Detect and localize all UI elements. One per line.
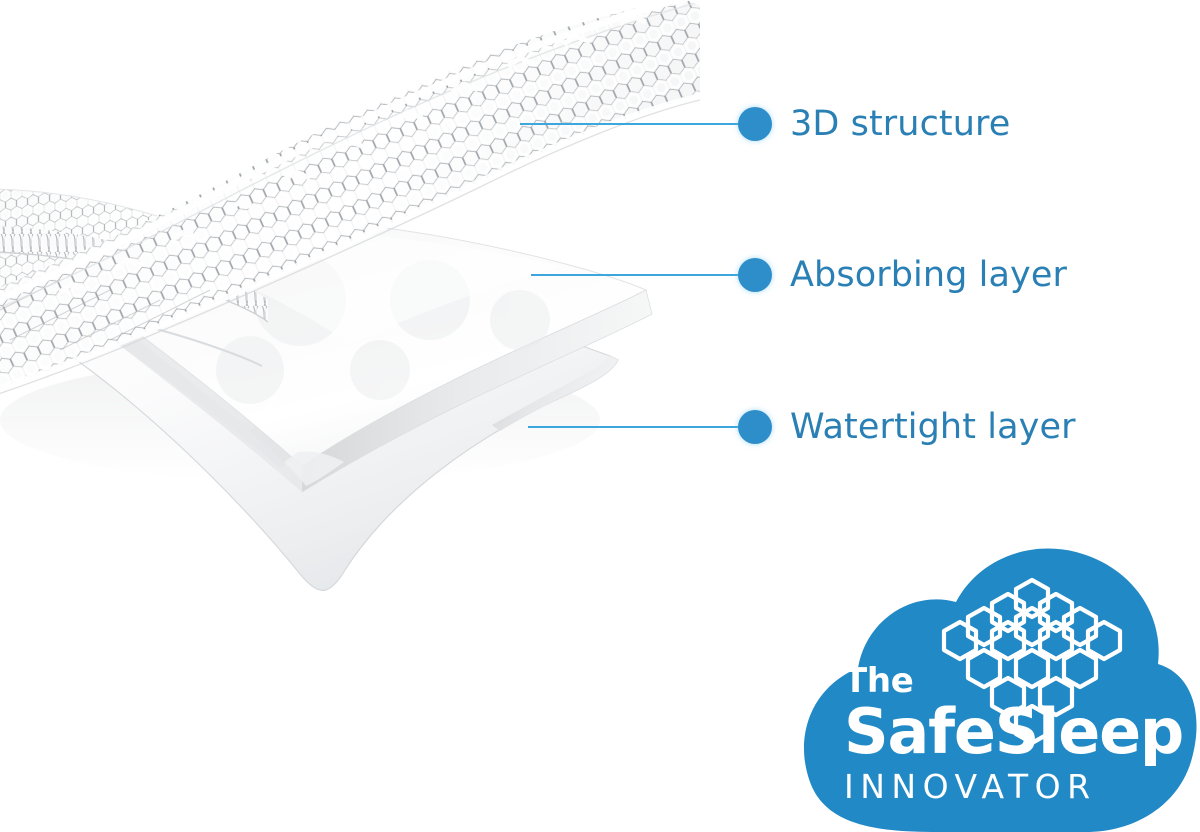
leader-line-absorbing-layer (531, 274, 742, 276)
callout-dot-icon (738, 107, 772, 141)
callout-absorbing-layer: Absorbing layer (738, 255, 1067, 295)
product-layer-diagram: 3D structure Absorbing layer Watertight … (0, 0, 1200, 832)
callout-dot-icon (738, 258, 772, 292)
callout-3d-structure: 3D structure (738, 104, 1010, 144)
callout-label-absorbing-layer: Absorbing layer (790, 258, 1067, 293)
logo-cloud-shape (800, 546, 1200, 832)
leader-line-3d-structure (520, 123, 742, 125)
callout-watertight-layer: Watertight layer (738, 407, 1076, 447)
safesleep-innovator-logo: The SafeSleep INNOVATOR (800, 546, 1200, 832)
callout-label-watertight-layer: Watertight layer (790, 410, 1076, 445)
callout-label-3d-structure: 3D structure (790, 107, 1010, 142)
leader-line-watertight-layer (528, 426, 742, 428)
callout-dot-icon (738, 410, 772, 444)
product-illustration (0, 0, 760, 620)
